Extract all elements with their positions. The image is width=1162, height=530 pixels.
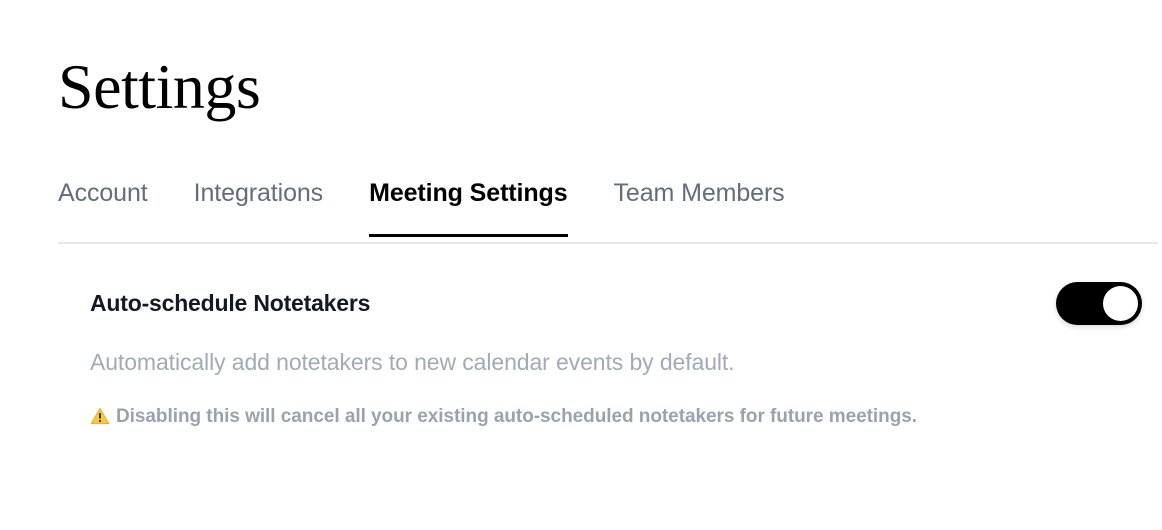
- warning-triangle-icon: [90, 400, 110, 418]
- tab-meeting-settings[interactable]: Meeting Settings: [369, 178, 567, 237]
- setting-title: Auto-schedule Notetakers: [90, 289, 370, 317]
- page-title: Settings: [58, 55, 260, 119]
- settings-tabbar: Account Integrations Meeting Settings Te…: [58, 178, 1158, 244]
- auto-schedule-notetakers-toggle[interactable]: [1056, 282, 1142, 325]
- settings-page: Settings Account Integrations Meeting Se…: [0, 0, 1162, 530]
- setting-description: Automatically add notetakers to new cale…: [90, 347, 1158, 377]
- tab-team-members[interactable]: Team Members: [614, 178, 785, 237]
- toggle-knob: [1103, 286, 1138, 321]
- auto-schedule-notetakers-setting: Auto-schedule Notetakers Automatically a…: [58, 275, 1158, 437]
- setting-warning: Disabling this will cancel all your exis…: [90, 397, 980, 437]
- tab-account[interactable]: Account: [58, 178, 148, 237]
- tabbar-divider: [58, 242, 1158, 244]
- setting-warning-text: Disabling this will cancel all your exis…: [116, 406, 917, 427]
- tab-integrations[interactable]: Integrations: [194, 178, 323, 237]
- setting-header-row: Auto-schedule Notetakers: [58, 275, 1158, 331]
